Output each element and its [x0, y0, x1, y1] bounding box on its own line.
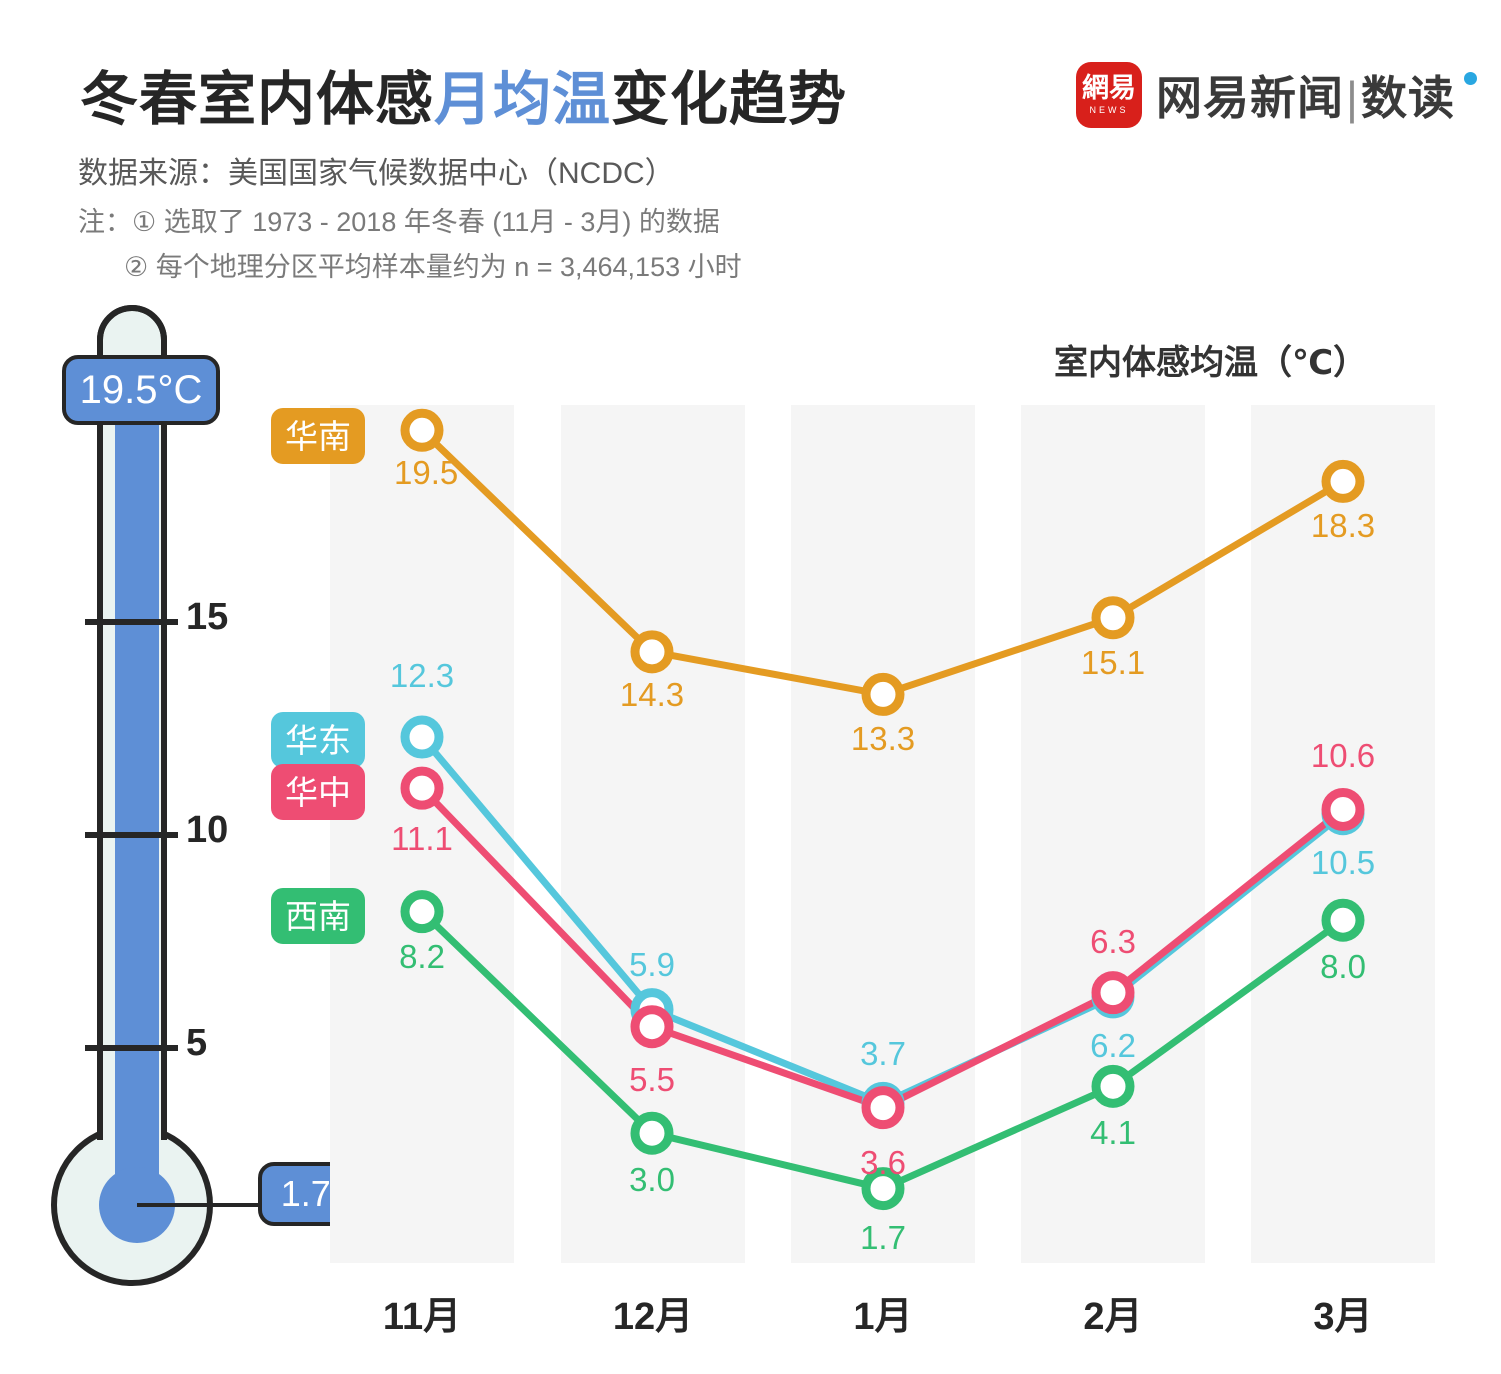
data-point-marker[interactable] — [1326, 464, 1360, 498]
data-point-marker[interactable] — [1096, 601, 1130, 635]
legend-item-huadong[interactable]: 华东 — [271, 712, 365, 768]
data-value-label: 1.7 — [860, 1219, 906, 1257]
data-value-label: 3.0 — [629, 1161, 675, 1199]
data-value-label: 15.1 — [1081, 644, 1145, 682]
series-lines-and-markers — [0, 0, 1501, 1374]
data-point-marker[interactable] — [866, 677, 900, 711]
data-point-marker[interactable] — [635, 1116, 669, 1150]
data-point-marker[interactable] — [405, 895, 439, 929]
data-value-label: 18.3 — [1311, 507, 1375, 545]
data-value-label: 3.6 — [860, 1144, 906, 1182]
data-point-marker[interactable] — [635, 635, 669, 669]
data-value-label: 14.3 — [620, 676, 684, 714]
legend-item-xinan[interactable]: 西南 — [271, 888, 365, 944]
data-point-marker[interactable] — [866, 1091, 900, 1125]
legend-item-huanan[interactable]: 华南 — [271, 408, 365, 464]
data-point-marker[interactable] — [1096, 976, 1130, 1010]
data-value-label: 5.5 — [629, 1061, 675, 1099]
x-axis-label-4: 3月 — [1251, 1285, 1435, 1340]
data-point-marker[interactable] — [1096, 1069, 1130, 1103]
data-value-label: 6.2 — [1090, 1027, 1136, 1065]
data-value-label: 5.9 — [629, 946, 675, 984]
data-point-marker[interactable] — [635, 1010, 669, 1044]
data-value-label: 10.6 — [1311, 737, 1375, 775]
data-point-marker[interactable] — [405, 720, 439, 754]
data-value-label: 13.3 — [851, 720, 915, 758]
x-axis-label-0: 11月 — [330, 1285, 514, 1340]
data-value-label: 6.3 — [1090, 923, 1136, 961]
x-axis-label-1: 12月 — [561, 1285, 745, 1340]
x-axis-label-3: 2月 — [1021, 1285, 1205, 1340]
legend-item-huazhong[interactable]: 华中 — [271, 764, 365, 820]
data-point-marker[interactable] — [405, 413, 439, 447]
data-value-label: 3.7 — [860, 1035, 906, 1073]
data-value-label: 8.2 — [399, 938, 445, 976]
data-point-marker[interactable] — [1326, 903, 1360, 937]
line-chart: 11月 12月 1月 2月 3月 华南 华东 华中 西南 19.514.313.… — [0, 0, 1501, 1374]
series-line-华南 — [422, 430, 1343, 694]
data-point-marker[interactable] — [1326, 792, 1360, 826]
data-value-label: 11.1 — [391, 820, 453, 858]
data-point-marker[interactable] — [405, 771, 439, 805]
data-value-label: 12.3 — [390, 657, 454, 695]
data-value-label: 10.5 — [1311, 844, 1375, 882]
x-axis-label-2: 1月 — [791, 1285, 975, 1340]
data-value-label: 19.5 — [394, 454, 458, 492]
data-value-label: 4.1 — [1090, 1114, 1136, 1152]
data-value-label: 8.0 — [1320, 948, 1366, 986]
